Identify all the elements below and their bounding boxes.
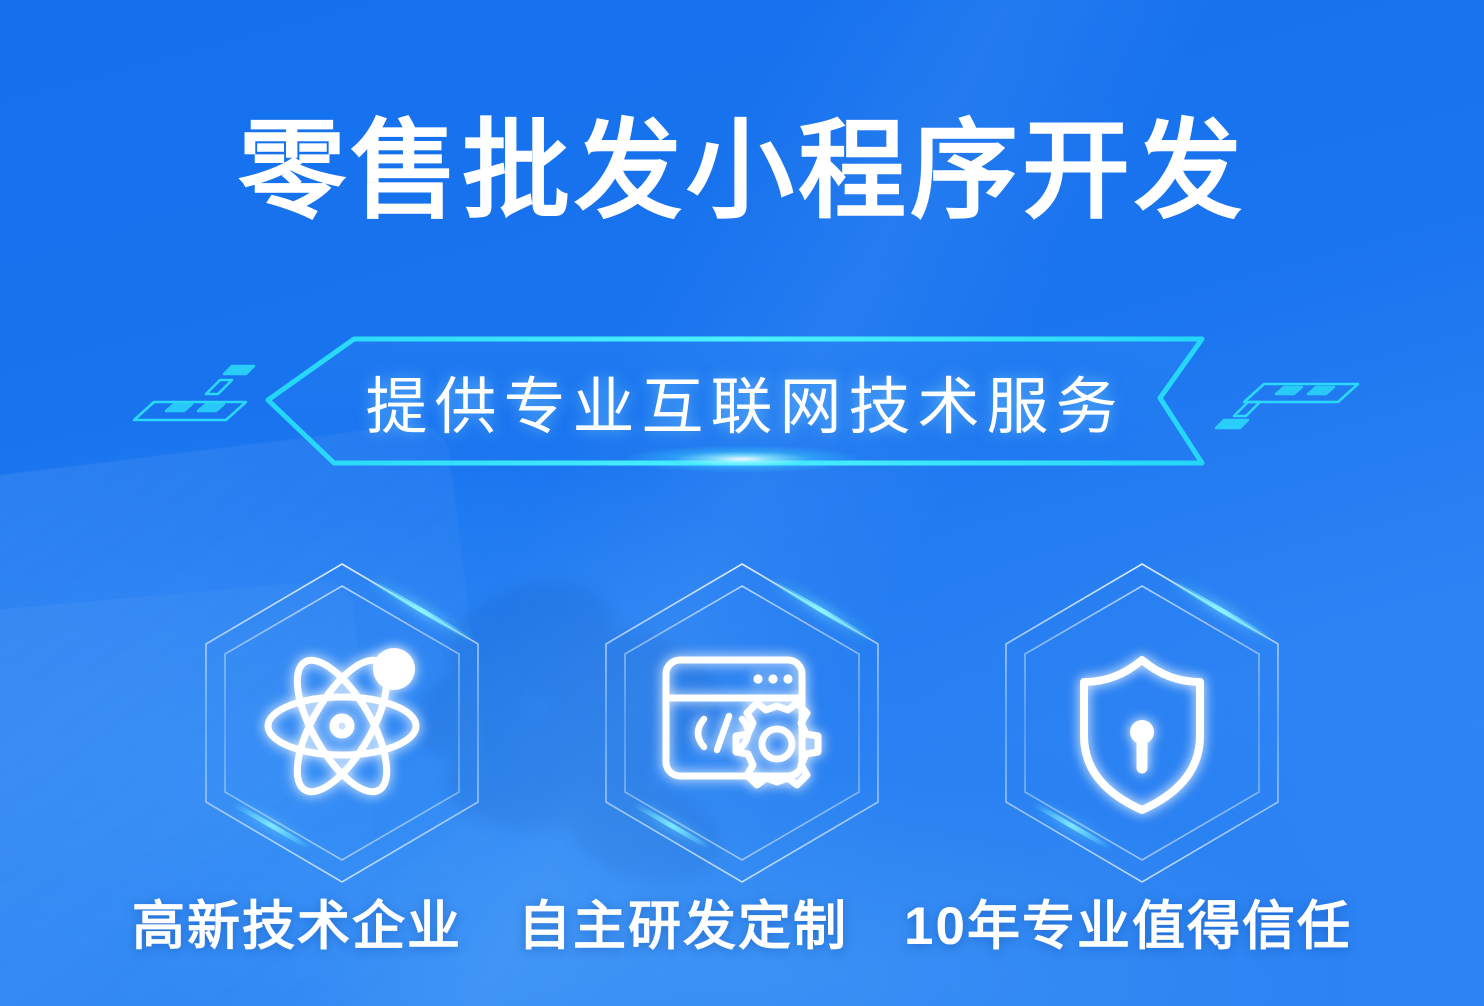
feature-hex-shield <box>982 556 1302 886</box>
feature-label-1: 自主研发定制 <box>518 884 848 960</box>
feature-hex-atom <box>182 556 502 886</box>
subtitle-banner: 提供专业互联网技术服务 <box>262 336 1222 466</box>
page-title: 零售批发小程序开发 <box>0 108 1484 233</box>
code-window-gear-icon <box>666 660 818 785</box>
feature-label-2: 10年专业值得信任 <box>904 884 1352 960</box>
subtitle-banner-area: 提供专业互联网技术服务 <box>0 336 1484 486</box>
tech-bars-right-icon <box>1214 358 1364 443</box>
feature-icon-row <box>0 556 1484 886</box>
shield-lock-icon <box>1084 660 1200 810</box>
feature-label-row: 高新技术企业 自主研发定制 10年专业值得信任 <box>0 884 1484 960</box>
feature-label-0: 高新技术企业 <box>132 884 462 960</box>
feature-hex-code <box>582 556 902 886</box>
subtitle-text: 提供专业互联网技术服务 <box>262 336 1222 466</box>
promo-banner-page: 零售批发小程序开发 <box>0 0 1484 1006</box>
tech-bars-left-icon <box>128 358 268 438</box>
